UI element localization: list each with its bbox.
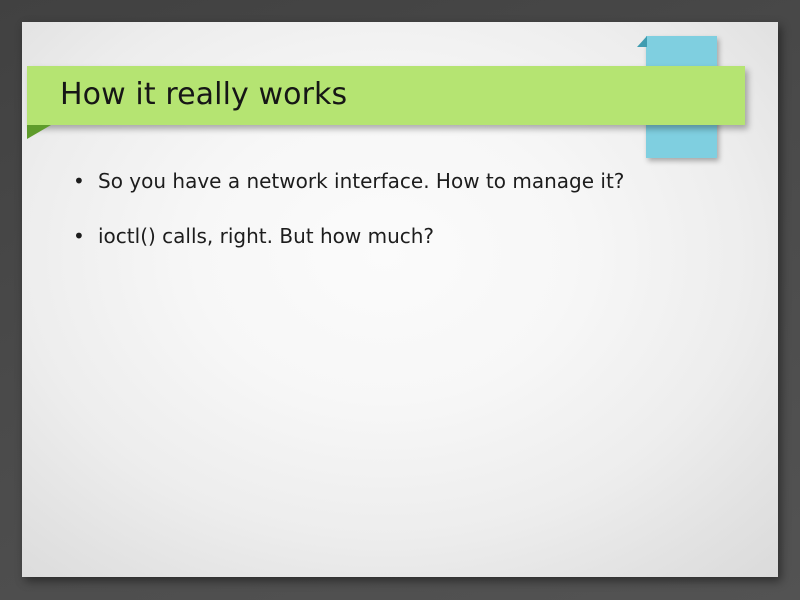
slide-canvas: How it really works • So you have a netw… bbox=[0, 0, 800, 600]
list-item: • So you have a network interface. How t… bbox=[68, 168, 758, 194]
bullet-list: • So you have a network interface. How t… bbox=[68, 168, 758, 278]
slide-title: How it really works bbox=[60, 74, 720, 116]
slide-sheet: How it really works • So you have a netw… bbox=[22, 22, 778, 577]
list-item: • ioctl() calls, right. But how much? bbox=[68, 223, 758, 249]
title-banner-fold-icon bbox=[27, 125, 51, 139]
bullet-marker-icon: • bbox=[73, 168, 85, 194]
list-item-label: ioctl() calls, right. But how much? bbox=[98, 224, 434, 248]
bullet-marker-icon: • bbox=[73, 223, 85, 249]
accent-ribbon-blue-fold-icon bbox=[637, 36, 647, 47]
list-item-label: So you have a network interface. How to … bbox=[98, 169, 624, 193]
